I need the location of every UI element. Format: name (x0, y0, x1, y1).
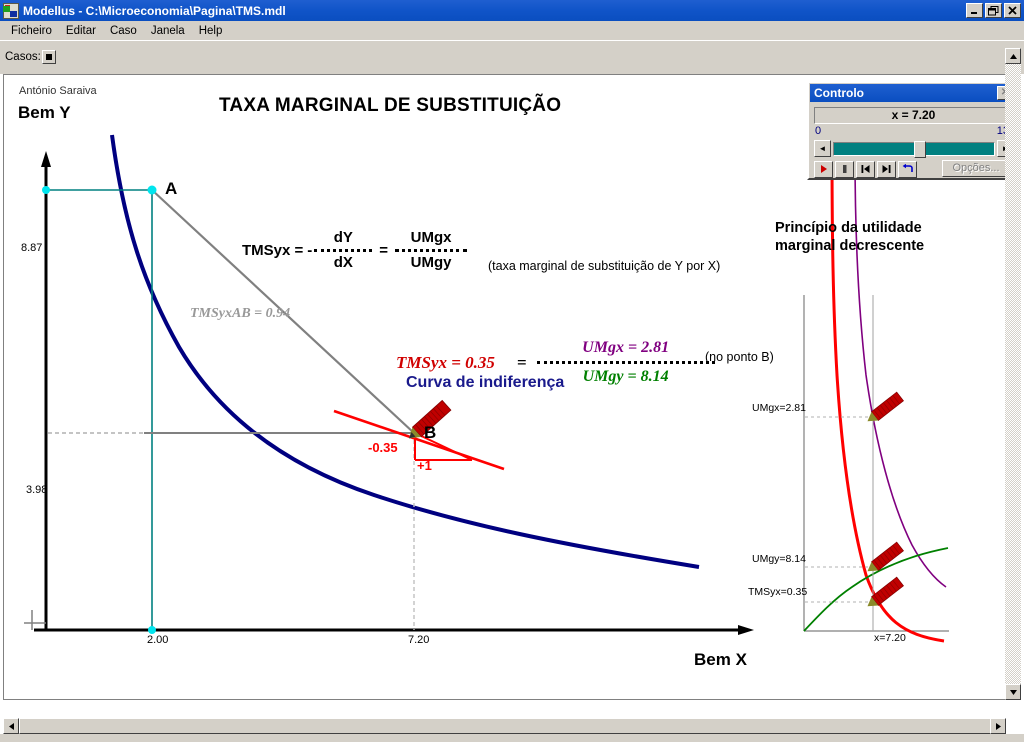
point-a-label: A (165, 179, 177, 199)
menu-item-ficheiro[interactable]: Ficheiro (4, 23, 59, 39)
miniplot-label-x: x=7.20 (874, 632, 906, 644)
formula-equals: = (372, 242, 395, 259)
tms-values: TMSyx = 0.35 = UMgx = 2.81 UMgy = 8.14 (396, 339, 715, 386)
controlo-title-text: Controlo (814, 86, 997, 100)
umgx-value-label: UMgx = 2.81 (582, 339, 669, 357)
casos-label: Casos: (5, 51, 41, 63)
pencil-icon-umgy (864, 542, 903, 576)
close-button[interactable] (1004, 3, 1021, 18)
formula-lhs: TMSyx = (242, 242, 305, 259)
casos-selector-button[interactable] (42, 50, 56, 64)
x-value-display: x = 7.20 (814, 107, 1013, 124)
modellus-app-icon (3, 3, 19, 19)
guide-a-y-marker (42, 186, 50, 194)
horizontal-scrollbar[interactable] (3, 718, 1006, 734)
secant-slope-label: TMSyxAB = 0.94 (190, 306, 290, 322)
formula-denominator-dx: dX (334, 255, 353, 271)
author-label: António Saraiva (19, 85, 97, 97)
restore-button[interactable] (985, 3, 1002, 18)
values-fraction-bar (537, 361, 715, 364)
y-axis-label: Bem Y (18, 103, 71, 123)
slider-row: ◄ ► (814, 139, 1014, 158)
delta-x-label: +1 (417, 458, 432, 473)
guide-a-x-marker (148, 626, 156, 634)
opcoes-button[interactable]: Opções... (942, 160, 1010, 177)
step-back-button[interactable] (856, 161, 875, 178)
umgy-value-label: UMgy = 8.14 (583, 368, 669, 386)
delta-y-label: -0.35 (368, 440, 398, 455)
y-tick-398: 3.98 (26, 484, 47, 496)
scroll-down-button[interactable] (1005, 684, 1021, 700)
values-equals: = (495, 353, 537, 373)
pause-button[interactable] (835, 161, 854, 178)
formula-bar-1 (314, 249, 372, 252)
controlo-titlebar[interactable]: Controlo ✕ (810, 84, 1015, 102)
slider-min-label: 0 (815, 125, 821, 137)
step-forward-button[interactable] (877, 161, 896, 178)
miniplot-title: Princípio da utilidade marginal decresce… (775, 219, 924, 255)
x-axis-arrowhead (738, 625, 754, 635)
y-tick-887: 8.87 (21, 242, 42, 254)
formula-numerator-dy: dY (334, 230, 353, 246)
formula-minus: - (305, 242, 314, 259)
menu-item-help[interactable]: Help (192, 23, 230, 39)
toolbar: Casos: y x d=? d=? A=? (0, 40, 1024, 74)
playback-button-row (814, 160, 919, 178)
slider-thumb[interactable] (914, 141, 926, 158)
menu-item-janela[interactable]: Janela (144, 23, 192, 39)
vertical-scrollbar-track[interactable] (1005, 64, 1021, 684)
slider-track[interactable] (833, 142, 995, 156)
pencil-icon-umgx (864, 392, 903, 426)
formula-fraction-dy: dY dX (314, 230, 372, 271)
status-bar (0, 734, 1024, 742)
point-b-label: B (424, 423, 436, 443)
formula-numerator-umgx: UMgx (411, 230, 452, 246)
vertical-scrollbar[interactable] (1005, 48, 1021, 700)
slider-decrement-button[interactable]: ◄ (814, 140, 831, 157)
menu-bar: Ficheiro Editar Caso Janela Help (0, 21, 1024, 40)
reset-button[interactable] (898, 161, 917, 178)
tms-formula: TMSyx = - dY dX = UMgx UMgy (242, 230, 467, 271)
miniplot-label-umgy: UMgy=8.14 (752, 553, 806, 565)
horizontal-scrollbar-thumb[interactable] (19, 718, 991, 734)
scroll-right-button[interactable] (990, 718, 1006, 734)
page-title: TAXA MARGINAL DE SUBSTITUIÇÃO (219, 95, 561, 117)
scroll-left-button[interactable] (3, 718, 19, 734)
scroll-up-button[interactable] (1005, 48, 1021, 64)
minimize-button[interactable] (966, 3, 983, 18)
controlo-window[interactable]: Controlo ✕ x = 7.20 0 13 ◄ ► (807, 81, 1018, 180)
play-button[interactable] (814, 161, 833, 178)
miniplot-title-line2: marginal decrescente (775, 237, 924, 255)
miniplot-title-line1: Princípio da utilidade (775, 219, 924, 237)
window-title: Modellus - C:\Microeconomia\Pagina\TMS.m… (23, 4, 966, 18)
formula-note: (taxa marginal de substituição de Y por … (488, 259, 720, 273)
values-note: (no ponto B) (705, 350, 774, 364)
x-axis-label: Bem X (694, 650, 747, 670)
formula-bar-2 (395, 249, 467, 252)
menu-item-editar[interactable]: Editar (59, 23, 103, 39)
window-titlebar[interactable]: Modellus - C:\Microeconomia\Pagina\TMS.m… (0, 0, 1024, 21)
miniplot-label-umgx: UMgx=2.81 (752, 402, 806, 414)
point-a-marker (148, 186, 157, 195)
miniplot-label-tmsyx: TMSyx=0.35 (748, 586, 807, 598)
y-axis-arrowhead (41, 151, 51, 167)
formula-denominator-umgy: UMgy (411, 255, 452, 271)
x-tick-200: 2.00 (147, 634, 168, 646)
values-fraction: UMgx = 2.81 UMgy = 8.14 (537, 339, 715, 386)
formula-fraction-umg: UMgx UMgy (395, 230, 467, 271)
x-tick-720: 7.20 (408, 634, 429, 646)
tms-value-label: TMSyx = 0.35 (396, 353, 495, 373)
menu-item-caso[interactable]: Caso (103, 23, 144, 39)
